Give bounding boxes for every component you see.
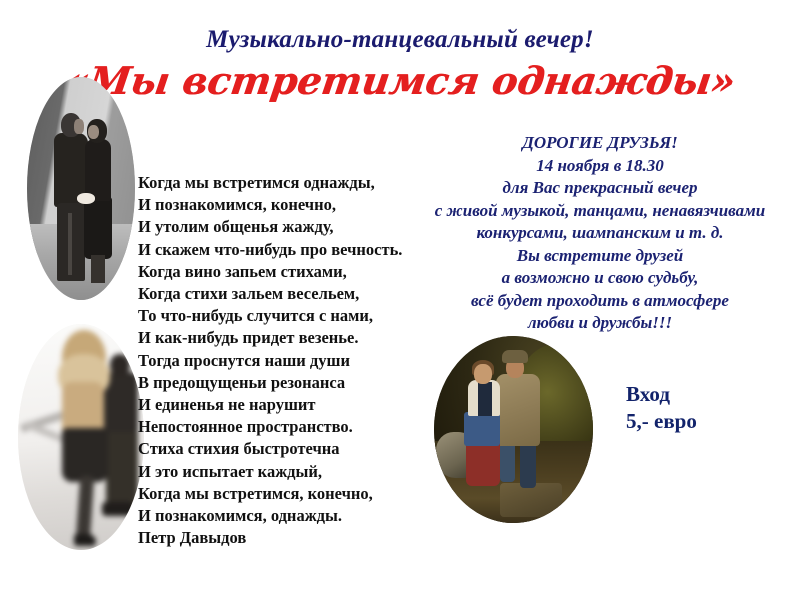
poem-line: Стиха стихия быстротечна [138,438,438,460]
poem-author: Петр Давыдов [138,527,438,549]
painting-woman-head [474,364,492,384]
dancer-woman-leg [76,476,95,543]
poem-line: И скажем что-нибудь про вечность. [138,239,438,261]
announcement-line: а возможно и свою судьбу, [400,267,800,290]
announcement-line: для Вас прекрасный вечер [400,177,800,200]
dancer-man-legs [106,428,138,510]
poem-line: Тогда проснутся наши души [138,350,438,372]
woman-torso [85,139,111,201]
announcement-heading: ДОРОГИЕ ДРУЗЬЯ! [400,132,800,155]
poem-line: И единенья не нарушит [138,394,438,416]
painting-woman-blue-skirt [464,412,500,446]
woman-skirt [84,197,112,259]
couple-standing-photo [27,77,135,300]
dancing-couple-blurred-photo [18,324,144,550]
folk-couple-painting [434,336,593,523]
painting-woman-vest [478,382,492,416]
woman-legs [91,255,105,283]
poem-line: И это испытает каждый, [138,461,438,483]
painting-man-coat [496,374,540,446]
dancer-woman-skirt [62,428,108,482]
held-hands [77,193,95,204]
poem-block: Когда мы встретимся однажды, И познакоми… [138,172,438,549]
man-legs [57,203,85,281]
entrance-price: 5,- евро [626,408,697,435]
painting-stone-block [500,483,562,517]
poem-line: И познакомимся, конечно, [138,194,438,216]
man-face [74,119,84,134]
poem-line: Непостоянное пространство. [138,416,438,438]
poem-line: Когда мы встретимся однажды, [138,172,438,194]
poem-line: То что-нибудь случится с нами, [138,305,438,327]
poem-line: И познакомимся, однажды. [138,505,438,527]
poem-line: И как-нибудь придет везенье. [138,327,438,349]
painting-woman-red-skirt [466,440,500,486]
announcement-line: любви и дружбы!!! [400,312,800,335]
announcement-block: ДОРОГИЕ ДРУЗЬЯ! 14 ноября в 18.30 для Ва… [400,132,800,335]
dancer-man-head [110,354,130,376]
poem-line: Когда мы встретимся, конечно, [138,483,438,505]
poster-canvas: Музыкально-танцевальный вечер! «Мы встре… [0,0,800,600]
announcement-line: с живой музыкой, танцами, ненавязчивами [400,200,800,223]
poem-line: В предощущеньи резонанса [138,372,438,394]
entrance-label: Вход [626,381,697,408]
woman-face [88,125,99,139]
poem-line: Когда стихи зальем весельем, [138,283,438,305]
entrance-price-block: Вход 5,- евро [626,381,697,435]
announcement-line: Вы встретите друзей [400,245,800,268]
announcement-line: конкурсами, шампанским и т. д. [400,222,800,245]
poem-line: Когда вино запьем стихами, [138,261,438,283]
announcement-date-time: 14 ноября в 18.30 [400,155,800,178]
poem-line: И утолим общенья жажду, [138,216,438,238]
dancer-man-shoe [102,502,136,516]
poster-title-primary: Музыкально-танцевальный вечер! [0,26,800,54]
painting-man-hat [502,350,528,363]
dancer-woman-shoe [74,534,96,546]
motion-blur-layer [18,324,144,550]
announcement-line: всё будет проходить в атмосфере [400,290,800,313]
